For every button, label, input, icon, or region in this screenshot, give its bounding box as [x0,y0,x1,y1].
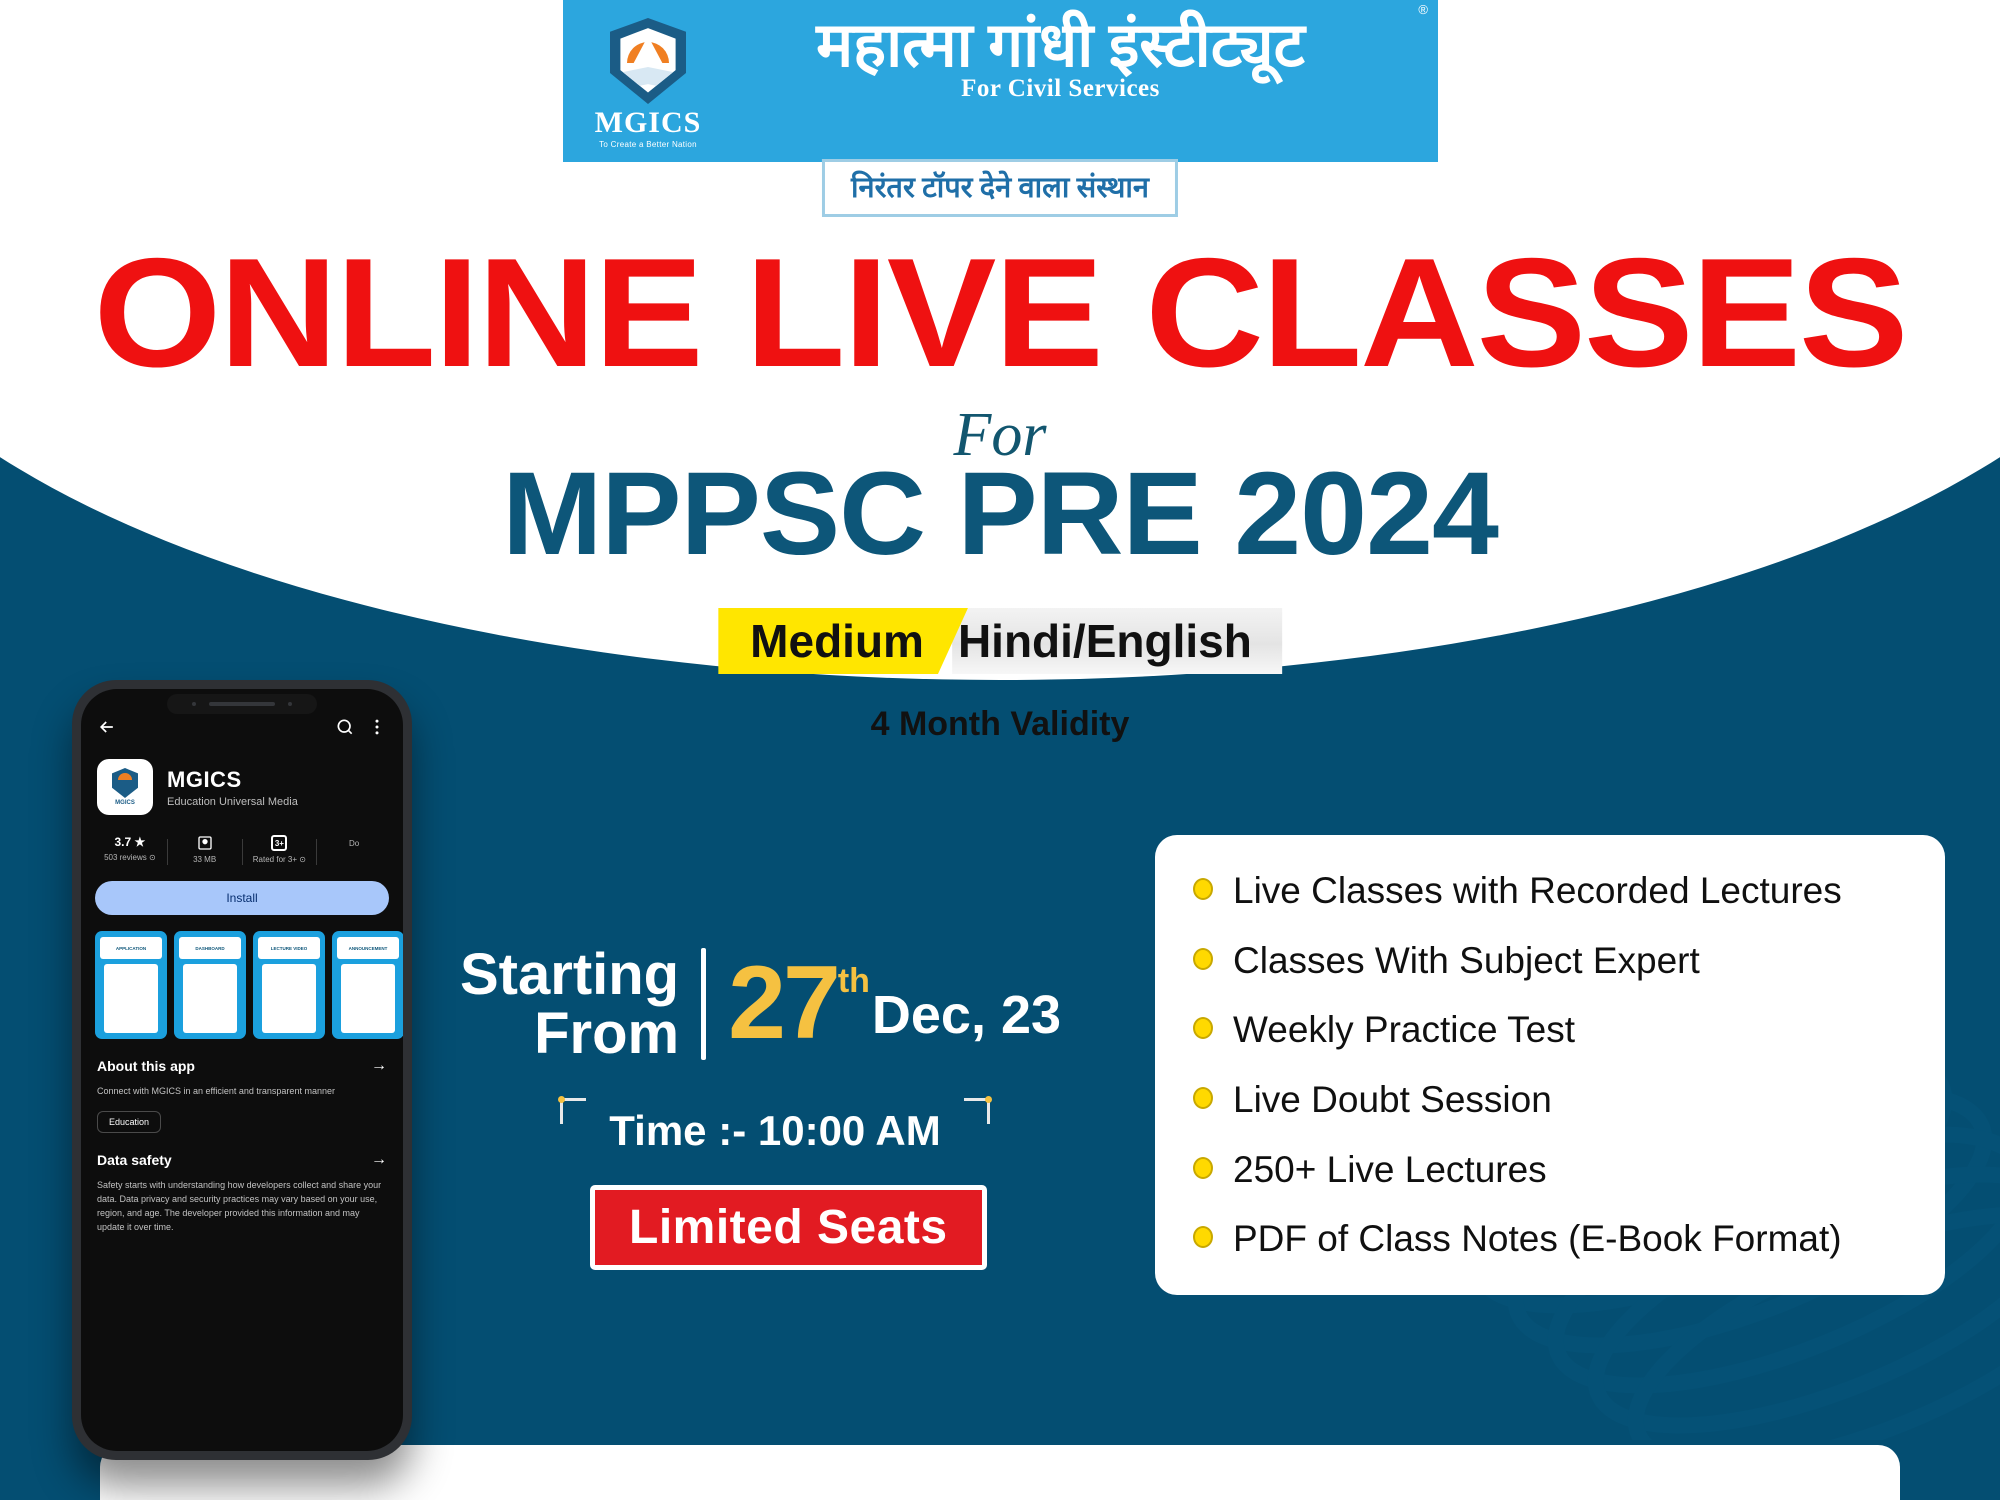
screenshot-caption: DASHBOARD [179,937,241,959]
app-stats: 3.7 ★ 503 reviews ⊙ 33 MB 3+ Rated for 3… [81,815,403,865]
about-app-section[interactable]: About this app → Connect with MGICS in a… [81,1039,403,1133]
search-icon[interactable] [335,717,355,737]
list-item: Weekly Practice Test [1193,1008,1907,1052]
phone-notch [167,694,317,714]
list-item: Live Doubt Session [1193,1078,1907,1122]
medium-value-chip: Hindi/English [952,608,1282,674]
age-rating-icon: 3+ [271,835,287,851]
brand-logo: MGICS To Create a Better Nation [593,14,703,149]
screenshot-item[interactable]: APPLICATION [95,931,167,1039]
downloads-label: Do [317,839,391,848]
class-time: Time :- 10:00 AM [609,1107,940,1155]
app-name: MGICS [167,767,298,793]
features-card: Live Classes with Recorded Lectures Clas… [1155,835,1945,1295]
poster-root: MGICS To Create a Better Nation महात्मा … [0,0,2000,1500]
brand-header-banner: MGICS To Create a Better Nation महात्मा … [563,0,1438,162]
logo-tagline: To Create a Better Nation [593,140,703,149]
bullet-icon [1193,1226,1213,1248]
age-rating-label: Rated for 3+ ⊙ [243,855,317,864]
book-icon [624,67,672,89]
screenshot-caption: APPLICATION [100,937,162,959]
app-icon: MGICS [97,759,153,815]
vertical-divider [701,948,706,1060]
data-safety-title: Data safety [97,1152,172,1168]
downloads-stat: Do [317,835,391,848]
install-button[interactable]: Install [95,881,389,915]
registered-mark-icon: ® [1418,2,1428,17]
start-date-value: 27 th Dec, 23 [728,958,1061,1050]
bullet-icon [1193,948,1213,970]
screenshot-item[interactable]: DASHBOARD [174,931,246,1039]
screenshot-caption: LECTURE VIDEO [258,937,320,959]
time-value: 10:00 AM [758,1107,941,1154]
list-item: Classes With Subject Expert [1193,939,1907,983]
start-date-block: Starting From 27 th Dec, 23 [460,945,1061,1063]
feature-text: PDF of Class Notes (E-Book Format) [1233,1217,1842,1261]
start-day-suffix: th [838,962,870,1001]
corner-bracket-top-right-icon [964,1098,990,1124]
list-item: Live Classes with Recorded Lectures [1193,869,1907,913]
about-app-title: About this app [97,1058,195,1074]
download-size-icon [197,835,213,851]
logo-wordmark: MGICS [593,108,703,138]
bullet-icon [1193,1157,1213,1179]
rating-stat: 3.7 ★ 503 reviews ⊙ [93,835,167,862]
medium-label-chip: Medium [718,608,968,674]
app-publisher: Education Universal Media [167,796,298,808]
time-label: Time :- [609,1107,758,1154]
corner-bracket-top-left-icon [560,1098,586,1124]
back-arrow-icon[interactable] [97,717,117,737]
bullet-icon [1193,878,1213,900]
exam-title: MPPSC PRE 2024 [0,455,2000,573]
about-app-text: Connect with MGICS in an efficient and t… [97,1085,387,1099]
class-time-block: Time :- 10:00 AM [560,1100,990,1162]
feature-text: 250+ Live Lectures [1233,1148,1547,1192]
age-rating-stat: 3+ Rated for 3+ ⊙ [243,835,317,864]
shield-icon [610,18,686,104]
feature-text: Live Doubt Session [1233,1078,1552,1122]
brand-subtitle: For Civil Services [703,75,1418,103]
brand-header-text: महात्मा गांधी इंस्टीट्यूट For Civil Serv… [703,14,1438,103]
data-safety-section[interactable]: Data safety → Safety starts with underst… [81,1133,403,1235]
app-icon-word: MGICS [115,800,135,806]
list-item: PDF of Class Notes (E-Book Format) [1193,1217,1907,1261]
screenshot-carousel[interactable]: APPLICATION DASHBOARD LECTURE VIDEO ANNO… [81,915,403,1039]
starting-line-2: From [460,1004,679,1063]
limited-seats-text: Limited Seats [629,1201,948,1254]
feature-text: Weekly Practice Test [1233,1008,1575,1052]
start-day: 27 [728,958,838,1050]
more-options-icon[interactable] [367,717,387,737]
medium-label: Medium [750,614,924,668]
play-store-listing: MGICS MGICS Education Universal Media 3.… [81,689,403,1451]
page-title: ONLINE LIVE CLASSES [0,235,2000,390]
size-stat: 33 MB [168,835,242,864]
data-safety-text: Safety starts with understanding how dev… [97,1179,387,1235]
size-label: 33 MB [168,855,242,864]
brand-tagline-box: निरंतर टॉपर देने वाला संस्थान [822,159,1178,217]
brand-hindi-name: महात्मा गांधी इंस्टीट्यूट [703,14,1418,79]
medium-value: Hindi/English [958,614,1252,668]
chevron-right-icon[interactable]: → [371,1057,387,1075]
screenshot-caption: ANNOUNCEMENT [337,937,399,959]
bullet-icon [1193,1087,1213,1109]
start-month-year: Dec, 23 [872,984,1061,1046]
rating-value: 3.7 ★ [93,835,167,849]
feature-text: Live Classes with Recorded Lectures [1233,869,1842,913]
starting-from-label: Starting From [460,945,679,1063]
feature-text: Classes With Subject Expert [1233,939,1700,983]
rating-label: 503 reviews ⊙ [93,853,167,862]
limited-seats-badge: Limited Seats [590,1185,987,1270]
screenshot-item[interactable]: LECTURE VIDEO [253,931,325,1039]
list-item: 250+ Live Lectures [1193,1148,1907,1192]
medium-badge: Medium Hindi/English [718,608,1282,674]
phone-mockup: MGICS MGICS Education Universal Media 3.… [72,680,412,1460]
mountain-icon [631,36,665,68]
bullet-icon [1193,1017,1213,1039]
starting-line-1: Starting [460,945,679,1004]
screenshot-item[interactable]: ANNOUNCEMENT [332,931,403,1039]
chevron-right-icon[interactable]: → [371,1151,387,1169]
category-chip[interactable]: Education [97,1111,161,1133]
brand-tagline: निरंतर टॉपर देने वाला संस्थान [851,172,1149,204]
app-header: MGICS MGICS Education Universal Media [81,737,403,815]
